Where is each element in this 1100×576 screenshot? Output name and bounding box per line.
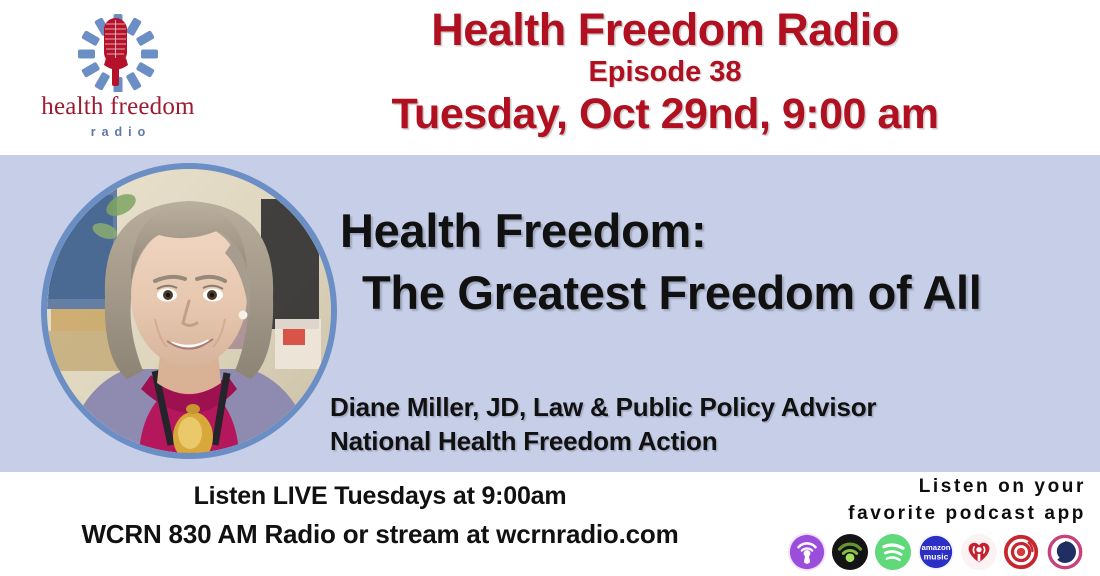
episode-title-line1: Health Freedom: bbox=[340, 200, 1080, 262]
episode-title: Health Freedom: The Greatest Freedom of … bbox=[340, 200, 1080, 324]
brand-logo: health freedom radio bbox=[8, 4, 228, 150]
logo-svg bbox=[70, 8, 166, 92]
guest-organization: National Health Freedom Action bbox=[330, 424, 1070, 458]
portrait-illustration bbox=[47, 169, 331, 453]
podcast-episode-poster: health freedom radio Health Freedom Radi… bbox=[0, 0, 1100, 576]
podcast-headline-line2: favorite podcast app bbox=[766, 501, 1086, 528]
guest-portrait bbox=[41, 163, 337, 459]
podcast-apps-section: Listen on your favorite podcast app bbox=[766, 474, 1086, 571]
guest-name-title: Diane Miller, JD, Law & Public Policy Ad… bbox=[330, 390, 1070, 424]
pocket-casts-icon[interactable] bbox=[1003, 533, 1041, 571]
amazon-music-icon[interactable]: amazon music bbox=[917, 533, 955, 571]
spotify-icon[interactable] bbox=[874, 533, 912, 571]
podcast-headline-line1: Listen on your bbox=[766, 474, 1086, 501]
microphone-rays-icon bbox=[70, 8, 166, 92]
air-date-time: Tuesday, Oct 29nd, 9:00 am bbox=[391, 90, 938, 138]
podbean-icon[interactable] bbox=[1046, 533, 1084, 571]
listen-live-schedule: Listen LIVE Tuesdays at 9:00am bbox=[0, 478, 760, 516]
logo-wordmark: health freedom bbox=[8, 94, 228, 119]
logo-subtitle: radio bbox=[8, 126, 228, 139]
svg-text:music: music bbox=[924, 552, 949, 562]
guest-portrait-image bbox=[47, 169, 331, 453]
iheartradio-icon[interactable] bbox=[960, 533, 998, 571]
header-text-group: Health Freedom Radio Episode 38 Tuesday,… bbox=[230, 0, 1100, 155]
header-band: health freedom radio Health Freedom Radi… bbox=[0, 0, 1100, 155]
listen-info: Listen LIVE Tuesdays at 9:00am WCRN 830 … bbox=[0, 478, 760, 553]
guest-credits: Diane Miller, JD, Law & Public Policy Ad… bbox=[330, 390, 1070, 459]
apple-podcasts-icon[interactable] bbox=[788, 533, 826, 571]
episode-number: Episode 38 bbox=[588, 54, 741, 90]
station-and-stream: WCRN 830 AM Radio or stream at wcrnradio… bbox=[0, 516, 760, 554]
podcast-app-icon-row: amazon music bbox=[766, 533, 1086, 571]
episode-title-line2: The Greatest Freedom of All bbox=[340, 262, 1080, 324]
show-title: Health Freedom Radio bbox=[431, 6, 899, 54]
podcast-addict-icon[interactable] bbox=[831, 533, 869, 571]
